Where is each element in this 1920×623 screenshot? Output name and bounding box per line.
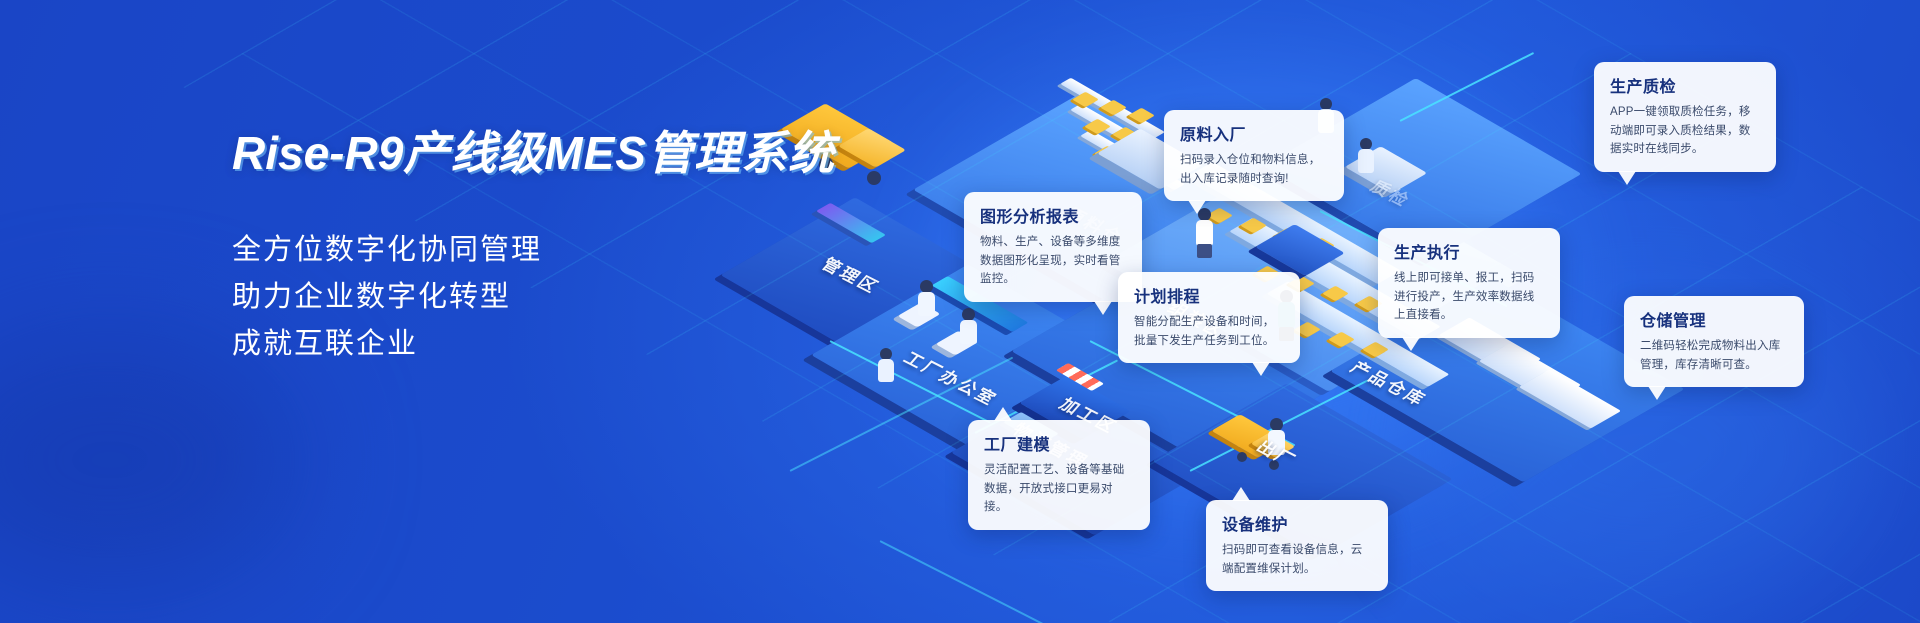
card-title: 生产执行 xyxy=(1394,239,1546,263)
card-title: 工厂建模 xyxy=(984,431,1136,455)
card-title: 生产质检 xyxy=(1610,73,1762,97)
card-title: 原料入厂 xyxy=(1180,121,1330,145)
card-body: 二维码轻松完成物料出入库管理，库存清晰可查。 xyxy=(1640,337,1790,374)
card-factory-modeling[interactable]: 工厂建模 灵活配置工艺、设备等基础数据，开放式接口更易对接。 xyxy=(968,420,1150,530)
card-body: APP一键领取质检任务，移动端即可录入质检结果，数据实时在线同步。 xyxy=(1610,103,1762,159)
card-pointer xyxy=(1618,171,1636,185)
card-title: 仓储管理 xyxy=(1640,307,1790,331)
card-pointer xyxy=(994,407,1012,421)
subtitle-line-2: 助力企业数字化转型 xyxy=(232,274,932,321)
card-raw-material-inbound[interactable]: 原料入厂 扫码录入仓位和物料信息，出入库记录随时查询! xyxy=(1164,110,1344,201)
hero-copy: Rise-R9产线级MES管理系统 全方位数字化协同管理 助力企业数字化转型 成… xyxy=(232,126,932,368)
page-title-rest: 产线级MES管理系统 xyxy=(403,127,835,179)
card-pointer xyxy=(1252,362,1270,376)
card-pointer xyxy=(1188,200,1206,214)
background-glow-left xyxy=(0,330,300,590)
card-pointer xyxy=(1232,487,1250,501)
page-title-brand: Rise-R9 xyxy=(232,127,403,179)
card-body: 线上即可接单、报工，扫码进行投产，生产效率数据线上直接看。 xyxy=(1394,269,1546,325)
page-title: Rise-R9产线级MES管理系统 xyxy=(232,126,932,181)
card-body: 物料、生产、设备等多维度数据图形化呈现，实时看管监控。 xyxy=(980,233,1128,289)
card-title: 图形分析报表 xyxy=(980,203,1128,227)
hero-banner: 管理区 工厂办公室 加工区 组装区 原料仓 质检 物流管理 出厂 产品仓库 Ri… xyxy=(0,0,1920,623)
card-production-quality-inspection[interactable]: 生产质检 APP一键领取质检任务，移动端即可录入质检结果，数据实时在线同步。 xyxy=(1594,62,1776,172)
card-title: 计划排程 xyxy=(1134,283,1286,307)
card-equipment-maintenance[interactable]: 设备维护 扫码即可查看设备信息，云端配置维保计划。 xyxy=(1206,500,1388,591)
subtitle-line-1: 全方位数字化协同管理 xyxy=(232,227,932,274)
card-graphic-analysis-report[interactable]: 图形分析报表 物料、生产、设备等多维度数据图形化呈现，实时看管监控。 xyxy=(964,192,1142,302)
subtitle-line-3: 成就互联企业 xyxy=(232,321,932,368)
card-plan-scheduling[interactable]: 计划排程 智能分配生产设备和时间，批量下发生产任务到工位。 xyxy=(1118,272,1300,363)
card-body: 智能分配生产设备和时间，批量下发生产任务到工位。 xyxy=(1134,313,1286,350)
card-body: 灵活配置工艺、设备等基础数据，开放式接口更易对接。 xyxy=(984,461,1136,517)
card-pointer xyxy=(1402,337,1420,351)
card-body: 扫码即可查看设备信息，云端配置维保计划。 xyxy=(1222,541,1374,578)
card-production-execution[interactable]: 生产执行 线上即可接单、报工，扫码进行投产，生产效率数据线上直接看。 xyxy=(1378,228,1560,338)
hero-subtitle: 全方位数字化协同管理 助力企业数字化转型 成就互联企业 xyxy=(232,227,932,368)
card-pointer xyxy=(1648,386,1666,400)
card-warehouse-management[interactable]: 仓储管理 二维码轻松完成物料出入库管理，库存清晰可查。 xyxy=(1624,296,1804,387)
card-pointer xyxy=(1094,301,1112,315)
card-body: 扫码录入仓位和物料信息，出入库记录随时查询! xyxy=(1180,151,1330,188)
card-title: 设备维护 xyxy=(1222,511,1374,535)
